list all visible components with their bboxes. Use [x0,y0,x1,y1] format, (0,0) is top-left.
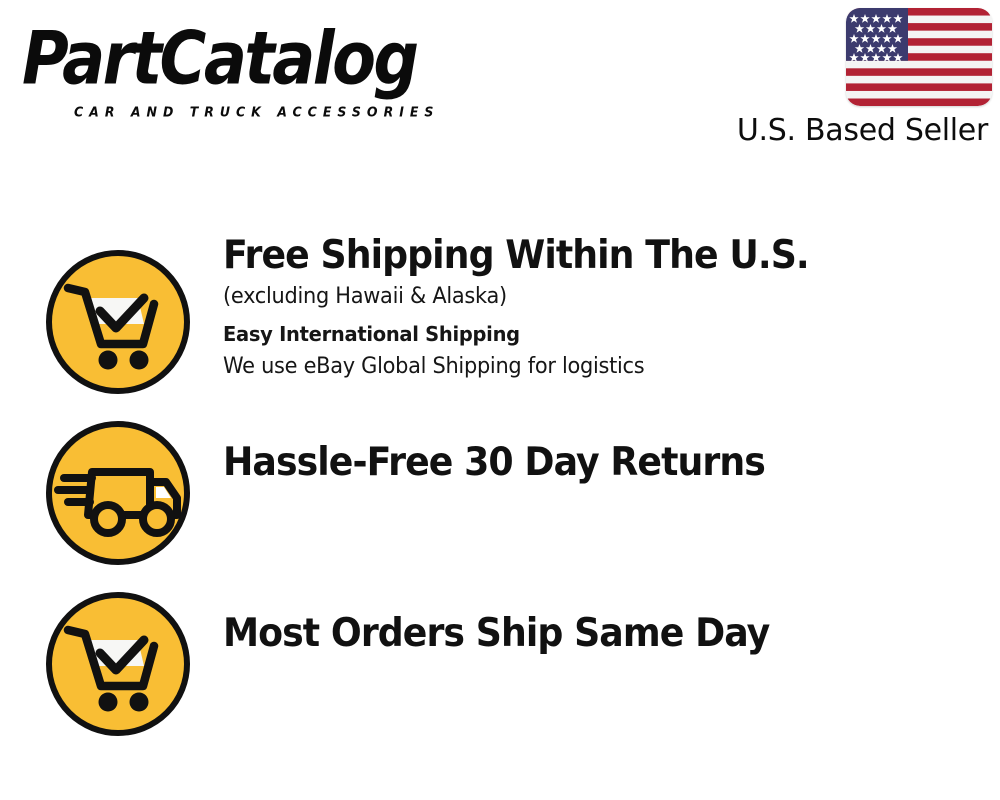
delivery-truck-icon [44,419,192,567]
shopping-cart-check-icon [44,248,192,396]
feature-row-returns: Hassle-Free 30 Day Returns [0,403,1000,574]
feature-text-free-shipping: Free Shipping Within The U.S. (excluding… [223,232,963,384]
us-based-seller-badge: U.S. Based Seller [732,8,992,150]
feature-row-same-day-ship: Most Orders Ship Same Day [0,574,1000,745]
feature-headline: Most Orders Ship Same Day [223,610,911,658]
us-based-seller-label: U.S. Based Seller [732,112,992,150]
feature-subline-international-title: Easy International Shipping [223,318,926,350]
feature-list: Free Shipping Within The U.S. (excluding… [0,232,1000,745]
feature-headline: Hassle-Free 30 Day Returns [223,439,911,487]
brand-logo[interactable]: PartCatalog CAR AND TRUCK ACCESSORIES [22,16,492,116]
brand-wordmark: PartCatalog [22,16,506,101]
feature-subline-international-detail: We use eBay Global Shipping for logistic… [223,350,926,384]
brand-tagline: CAR AND TRUCK ACCESSORIES [74,104,439,120]
feature-text-same-day-ship: Most Orders Ship Same Day [223,610,963,658]
shopping-cart-check-icon [44,590,192,738]
us-flag-icon [846,8,992,106]
feature-headline: Free Shipping Within The U.S. [223,232,911,280]
feature-subline-exclusions: (excluding Hawaii & Alaska) [223,280,926,314]
page-header: PartCatalog CAR AND TRUCK ACCESSORIES [0,0,1000,170]
feature-row-free-shipping: Free Shipping Within The U.S. (excluding… [0,232,1000,403]
feature-text-returns: Hassle-Free 30 Day Returns [223,439,963,487]
